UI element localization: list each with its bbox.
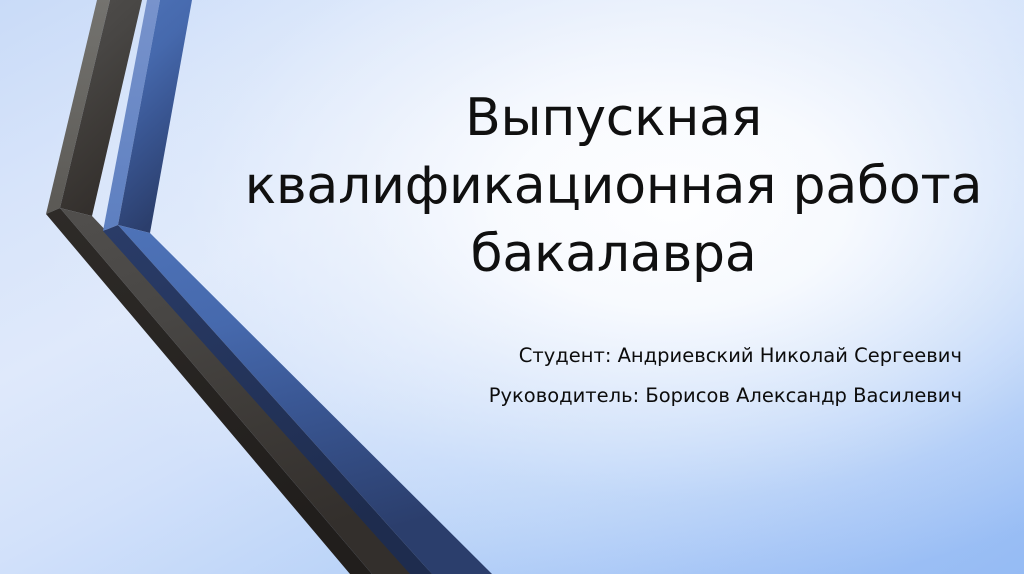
gray-chevron-face-upper xyxy=(60,0,142,216)
slide-title: Выпускная квалификационная работа бакала… xyxy=(205,84,1022,288)
title-line-2: квалификационная работа xyxy=(205,152,1022,220)
blue-chevron-bevel-upper xyxy=(103,0,160,231)
title-line-1: Выпускная xyxy=(205,84,1022,152)
title-line-3: бакалавра xyxy=(205,220,1022,288)
subtitle-line-supervisor: Руководитель: Борисов Александр Василеви… xyxy=(300,376,962,416)
subtitle-line-student: Студент: Андриевский Николай Сергеевич xyxy=(300,336,962,376)
title-slide: Выпускная квалификационная работа бакала… xyxy=(0,0,1024,574)
slide-subtitle: Студент: Андриевский Николай Сергеевич Р… xyxy=(300,336,962,416)
gray-chevron-bevel-upper xyxy=(46,0,110,214)
blue-chevron-face-upper xyxy=(118,0,192,233)
